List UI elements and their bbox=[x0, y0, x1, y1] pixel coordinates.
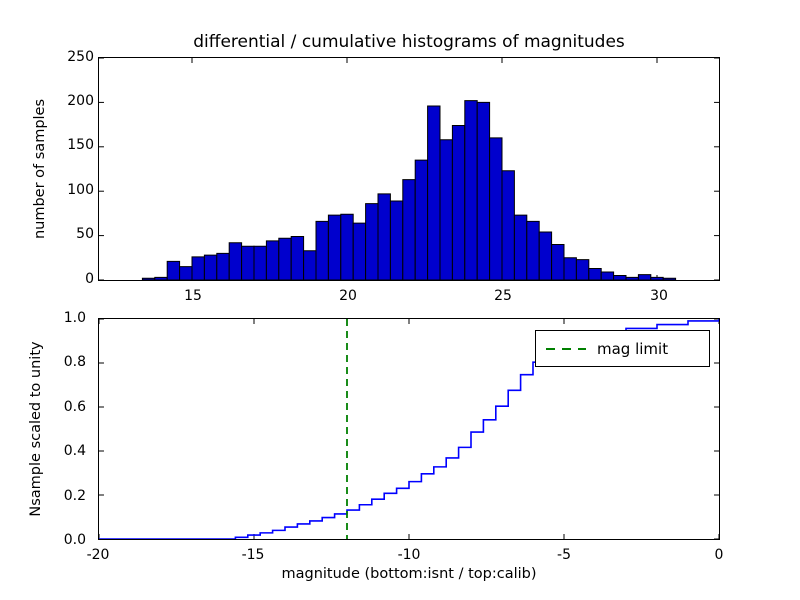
legend-label-mag-limit: mag limit bbox=[597, 340, 668, 358]
differential-histogram-plot bbox=[99, 58, 719, 280]
bottom-xtick--10: -10 bbox=[384, 547, 434, 563]
bottom-xtick--20: -20 bbox=[73, 547, 123, 563]
bottom-ytick-0.4: 0.4 bbox=[40, 443, 86, 459]
top-ytick-100: 100 bbox=[48, 182, 94, 198]
top-xtick-25: 25 bbox=[478, 288, 528, 304]
top-xtick-30: 30 bbox=[634, 288, 684, 304]
top-xtick-15: 15 bbox=[168, 288, 218, 304]
figure-canvas: differential / cumulative histograms of … bbox=[0, 0, 800, 600]
bottom-ytick-0.6: 0.6 bbox=[40, 399, 86, 415]
top-ytick-250: 250 bbox=[48, 49, 94, 65]
top-ytick-150: 150 bbox=[48, 137, 94, 153]
bottom-xtick--5: -5 bbox=[539, 547, 589, 563]
bottom-ytick-1.0: 1.0 bbox=[40, 310, 86, 326]
bottom-ytick-0.0: 0.0 bbox=[40, 532, 86, 548]
top-ytick-0: 0 bbox=[48, 271, 94, 287]
bottom-xtick--15: -15 bbox=[228, 547, 278, 563]
top-ytick-200: 200 bbox=[48, 93, 94, 109]
top-panel-axes bbox=[98, 57, 720, 281]
bottom-ytick-0.8: 0.8 bbox=[40, 354, 86, 370]
top-panel-ylabel: number of samples bbox=[32, 57, 48, 281]
bottom-ytick-0.2: 0.2 bbox=[40, 488, 86, 504]
mag-limit-dashed-line-icon bbox=[545, 343, 587, 355]
figure-title: differential / cumulative histograms of … bbox=[98, 32, 720, 52]
legend[interactable]: mag limit bbox=[535, 330, 710, 367]
figure-xlabel: magnitude (bottom:isnt / top:calib) bbox=[98, 566, 720, 582]
top-ytick-50: 50 bbox=[48, 226, 94, 242]
bottom-xtick-0: 0 bbox=[694, 547, 744, 563]
bottom-panel-ylabel: Nsample scaled to unity bbox=[28, 318, 44, 540]
top-xtick-20: 20 bbox=[323, 288, 373, 304]
